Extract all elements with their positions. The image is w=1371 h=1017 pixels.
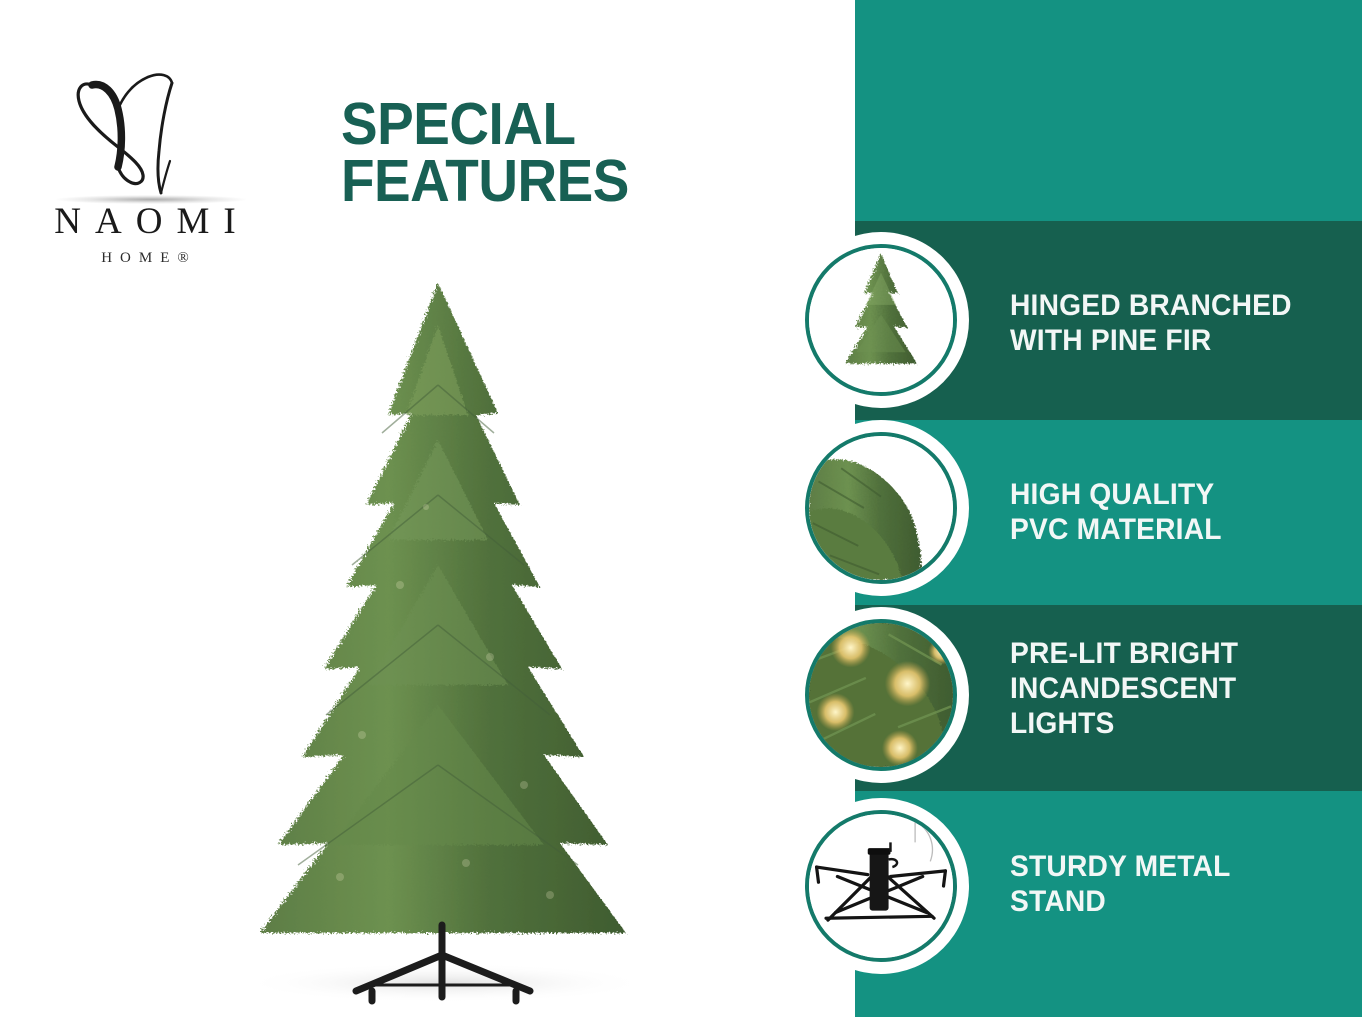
feature-line: LIGHTS <box>1010 706 1320 741</box>
feature-line: PRE-LIT BRIGHT <box>1010 636 1320 671</box>
title-line-2: FEATURES <box>341 153 778 210</box>
brand-name: NAOMI <box>0 203 290 240</box>
hero-christmas-tree-image <box>120 265 760 1017</box>
circle-teal-ring <box>805 244 957 396</box>
christmas-tree-full-view-icon <box>809 248 953 392</box>
page-title: SPECIAL FEATURES <box>341 96 778 210</box>
title-line-1: SPECIAL <box>341 96 778 153</box>
feature-image-pvc-material[interactable] <box>793 420 969 596</box>
feature-label-pre-lit-lights: PRE-LIT BRIGHT INCANDESCENT LIGHTS <box>1010 636 1320 741</box>
circle-teal-ring <box>805 810 957 962</box>
infographic-page: NAOMI HOME® SPECIAL FEATURES <box>0 0 1371 1017</box>
tree-branch-closeup-icon <box>809 436 953 580</box>
brand-logo: NAOMI HOME® <box>0 55 300 265</box>
feature-line: WITH PINE FIR <box>1010 323 1320 358</box>
feature-label-metal-stand: STURDY METAL STAND <box>1010 849 1320 919</box>
band-top <box>855 0 1362 221</box>
feature-image-metal-stand[interactable] <box>793 798 969 974</box>
feature-label-pvc-material: HIGH QUALITY PVC MATERIAL <box>1010 477 1320 547</box>
brand-sub: HOME® <box>0 251 290 266</box>
feature-line: STAND <box>1010 884 1320 919</box>
circle-teal-ring <box>805 432 957 584</box>
feature-line: STURDY METAL <box>1010 849 1320 884</box>
feature-image-hinged-branched[interactable] <box>793 232 969 408</box>
feature-line: PVC MATERIAL <box>1010 512 1320 547</box>
naomi-script-n-monogram-icon <box>0 55 300 205</box>
metal-tripod-stand-icon <box>809 814 953 958</box>
feature-image-pre-lit-lights[interactable] <box>793 607 969 783</box>
feature-label-hinged-branched: HINGED BRANCHED WITH PINE FIR <box>1010 288 1320 358</box>
feature-line: HIGH QUALITY <box>1010 477 1320 512</box>
feature-line: HINGED BRANCHED <box>1010 288 1320 323</box>
feature-line: INCANDESCENT <box>1010 671 1320 706</box>
circle-teal-ring <box>805 619 957 771</box>
incandescent-lights-closeup-icon <box>809 623 953 767</box>
